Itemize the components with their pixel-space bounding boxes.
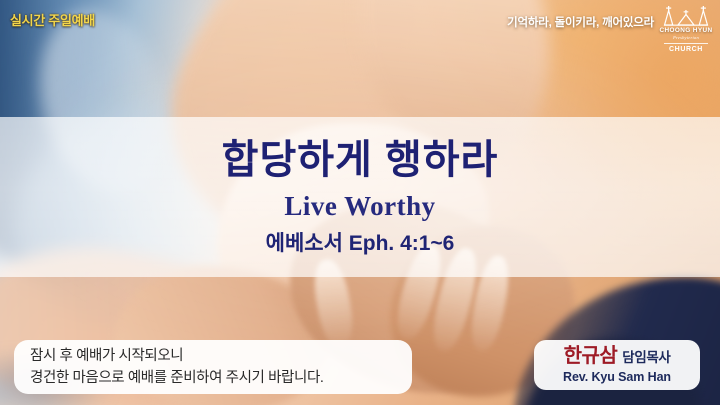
scripture-reference: 에베소서 Eph. 4:1~6 [266,231,455,256]
sermon-title-block: 합당하게 행하라 Live Worthy 에베소서 Eph. 4:1~6 [0,117,720,277]
live-service-label: 실시간 주일예배 [10,10,95,29]
pastor-name-box: 한규삼 담임목사 Rev. Kyu Sam Han [534,340,700,390]
church-building-crosses-icon [662,4,710,27]
broadcast-slide: 실시간 주일예배 기억하라, 돌이키라, 깨어있으라 CHOONG HYUN [0,0,720,405]
logo-name-text: CHOONG HYUN [659,28,712,34]
service-notice-box: 잠시 후 예배가 시작되오니 경건한 마음으로 예배를 준비하여 주시기 바랍니… [14,340,412,394]
pastor-role-korean: 담임목사 [622,351,670,365]
church-motto: 기억하라, 돌이키라, 깨어있으라 [507,14,654,30]
pastor-name-korean: 한규삼 [564,346,618,366]
notice-line-2: 경건한 마음으로 예배를 준비하여 주시기 바랍니다. [30,367,396,389]
pastor-korean-row: 한규삼 담임목사 [564,346,671,366]
notice-line-1: 잠시 후 예배가 시작되오니 [30,345,396,367]
church-logo: CHOONG HYUN Presbyterian CHURCH [658,4,714,54]
logo-script-text: Presbyterian [673,36,699,41]
logo-church-text: CHURCH [664,43,708,53]
sermon-title-korean: 합당하게 행하라 [222,138,499,183]
pastor-name-english: Rev. Kyu Sam Han [563,370,671,384]
sermon-title-english: Live Worthy [284,190,435,222]
